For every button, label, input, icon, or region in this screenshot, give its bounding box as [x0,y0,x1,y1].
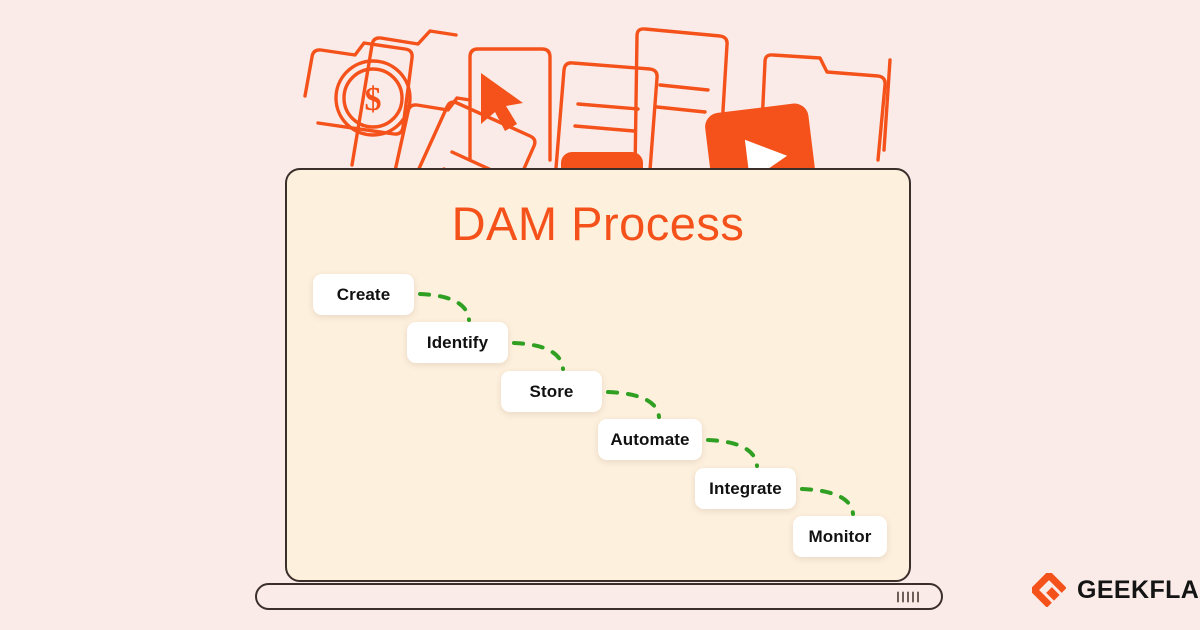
connector-integrate-monitor [802,489,853,514]
step-label: Automate [610,430,689,450]
step-card-create[interactable]: Create [313,274,414,315]
connector-store-automate [608,392,659,417]
laptop-base [255,583,943,610]
step-label: Store [530,382,574,402]
connector-automate-integrate [708,440,757,466]
svg-text:$: $ [365,81,382,118]
step-label: Create [337,285,391,305]
header-illustration: $ [0,0,1200,180]
step-card-identify[interactable]: Identify [407,322,508,363]
step-card-integrate[interactable]: Integrate [695,468,796,509]
step-label: Integrate [709,479,782,499]
cursor-arrow-icon [481,73,523,131]
vent-marks [897,591,919,602]
dollar-coin-icon: $ [336,61,410,135]
process-flow: Create Identify Store Automate Integrate… [285,168,911,582]
step-card-automate[interactable]: Automate [598,419,702,460]
geekflare-mark-icon [1032,573,1066,607]
poster-canvas: $ DAM Process Create Id [0,0,1200,630]
step-label: Identify [427,333,488,353]
brand-logo: GEEKFLARE [1032,573,1200,607]
brand-name: GEEKFLARE [1077,578,1200,603]
connector-identify-store [514,343,563,369]
step-label: Monitor [808,527,871,547]
step-card-monitor[interactable]: Monitor [793,516,887,557]
step-card-store[interactable]: Store [501,371,602,412]
connector-create-identify [420,294,469,320]
